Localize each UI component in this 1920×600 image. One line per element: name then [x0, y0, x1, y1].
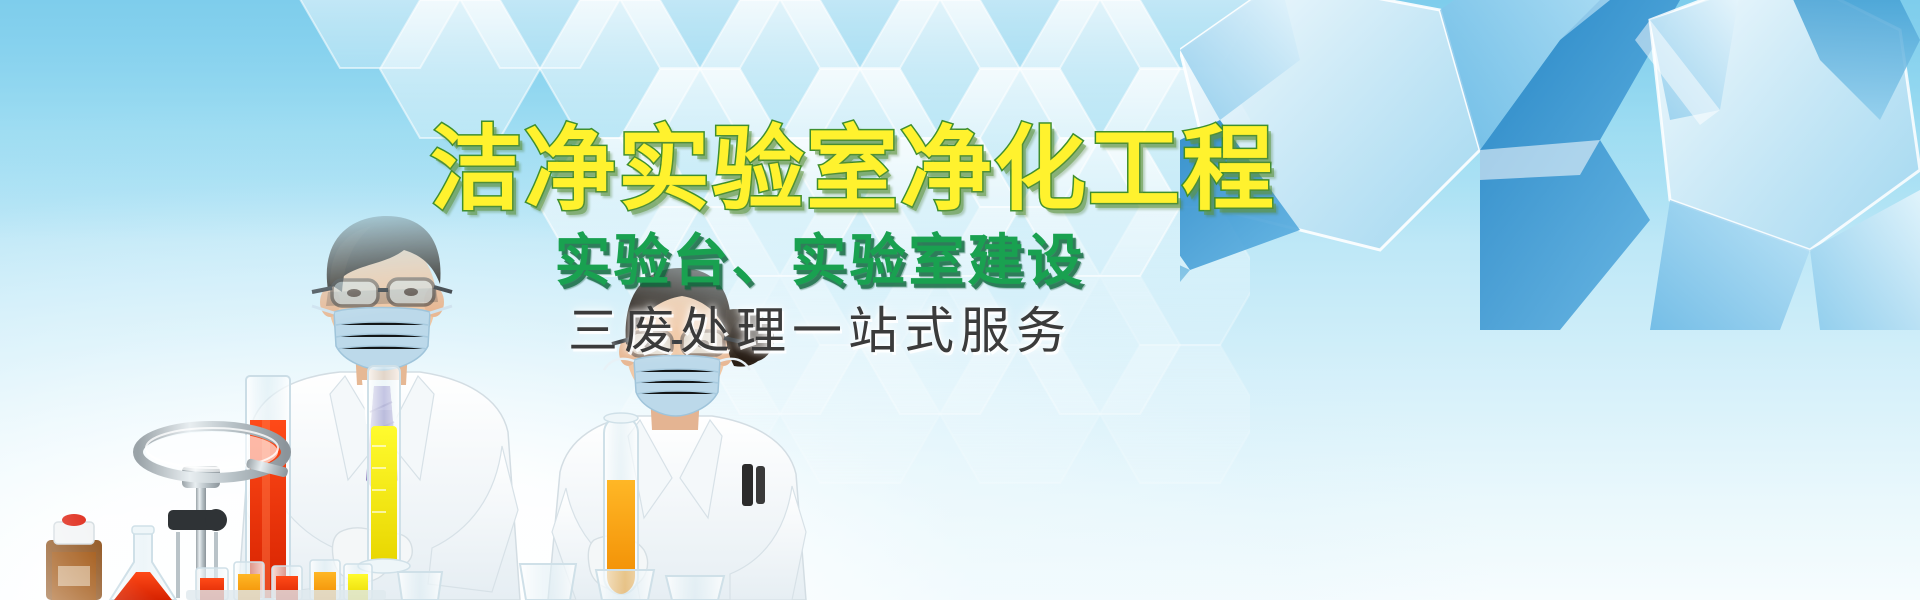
promo-banner: 洁净实验室净化工程 实验台、实验室建设 三废处理一站式服务 [0, 0, 1920, 600]
banner-subline: 实验台、实验室建设 [430, 232, 1210, 292]
banner-headline: 洁净实验室净化工程 [430, 122, 1210, 218]
banner-copy: 洁净实验室净化工程 实验台、实验室建设 三废处理一站式服务 [430, 122, 1210, 358]
test-tube-orange [604, 413, 638, 594]
crystal-polygons-graphic [1180, 0, 1920, 330]
reagent-bottle-amber [46, 514, 102, 600]
banner-tagline: 三废处理一站式服务 [430, 304, 1210, 358]
erlenmeyer-flask-red [110, 526, 176, 600]
magnifier-ring [138, 426, 289, 478]
